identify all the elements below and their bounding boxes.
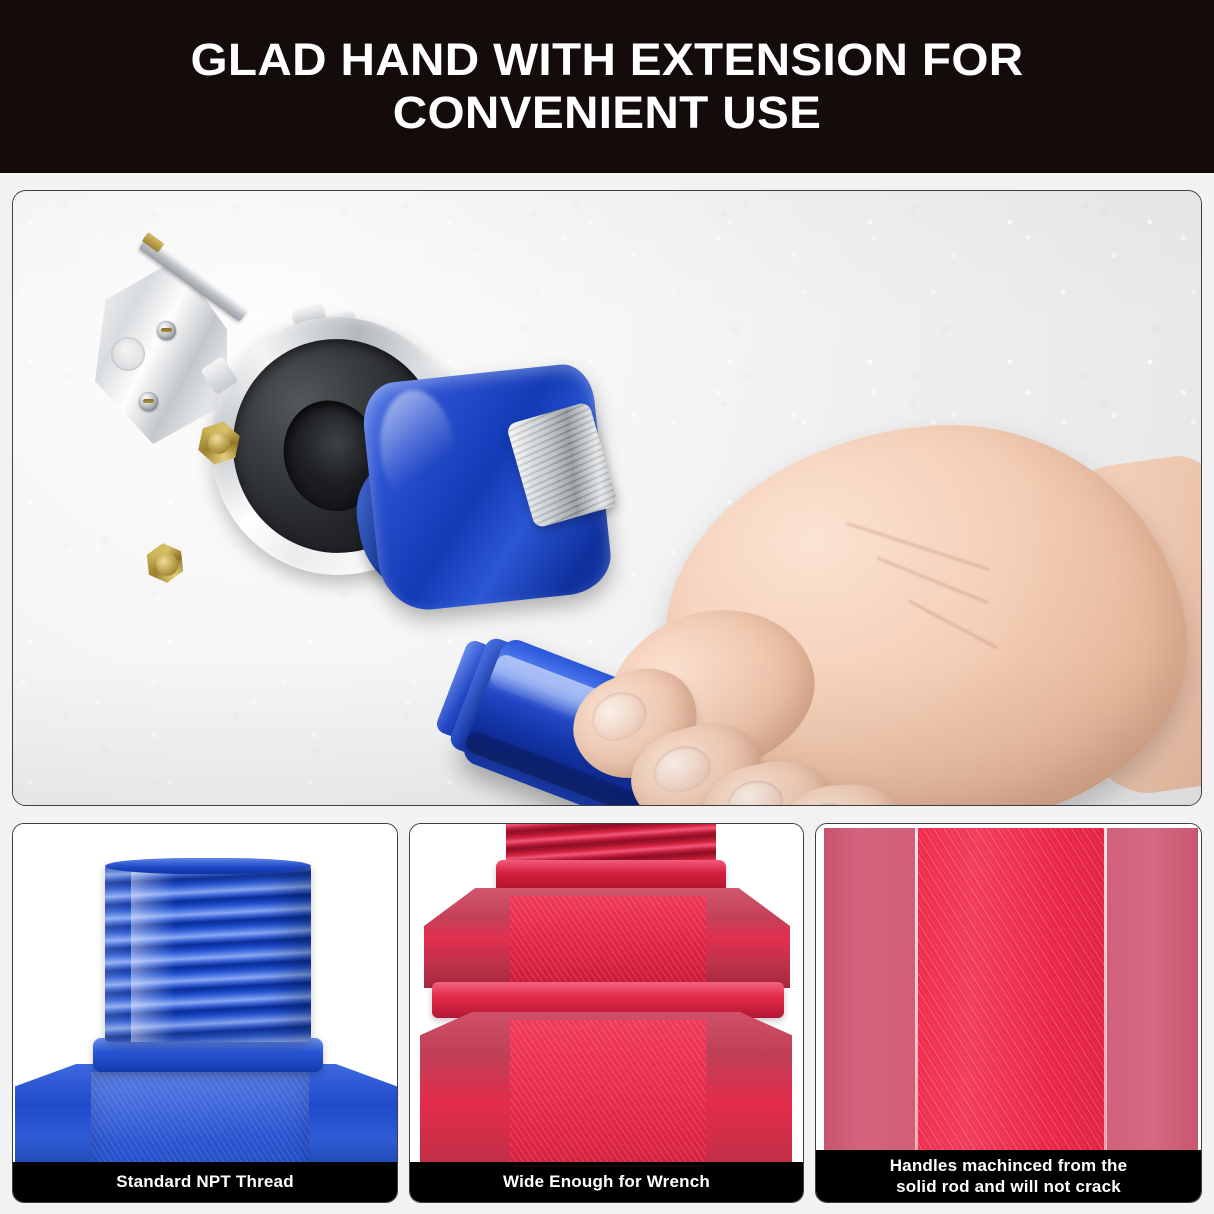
page-title: GLAD HAND WITH EXTENSION FOR CONVENIENT … — [35, 34, 1180, 138]
npt-male-thread — [105, 864, 311, 1042]
rod-edge-right — [1104, 828, 1107, 1158]
npt-thread-top-rim — [105, 858, 311, 874]
feature-solid-rod-handle — [816, 824, 1201, 1202]
feature-panel-wrench-width: Wide Enough for Wrench — [409, 823, 804, 1203]
feature-panel-npt-thread: Standard NPT Thread — [12, 823, 398, 1203]
feature-caption-wrench: Wide Enough for Wrench — [410, 1162, 803, 1202]
feature-caption-text: Standard NPT Thread — [116, 1171, 294, 1192]
red-hex-upper-face — [510, 896, 706, 988]
feature-wrench-width — [410, 824, 803, 1202]
photo-vignette — [13, 191, 1201, 805]
glad-hand-in-hand-photo — [13, 191, 1201, 805]
feature-caption-line-1: Handles machinced from the — [890, 1155, 1128, 1176]
feature-caption-solid-rod: Handles machinced from the solid rod and… — [816, 1150, 1201, 1202]
header-banner: GLAD HAND WITH EXTENSION FOR CONVENIENT … — [0, 0, 1214, 173]
red-male-thread — [506, 824, 716, 864]
hero-image-panel — [12, 190, 1202, 806]
feature-caption-text: Wide Enough for Wrench — [503, 1171, 710, 1192]
feature-caption-line-2: solid rod and will not crack — [890, 1176, 1128, 1197]
rod-edge-left — [915, 828, 918, 1158]
feature-npt-thread — [13, 824, 397, 1202]
feature-caption-npt: Standard NPT Thread — [13, 1162, 397, 1202]
feature-panel-solid-rod: Handles machinced from the solid rod and… — [815, 823, 1202, 1203]
rod-center-facet — [916, 828, 1106, 1158]
rod-left-facet — [824, 828, 916, 1158]
rod-right-facet — [1106, 828, 1198, 1158]
npt-shoulder-flange — [93, 1038, 323, 1072]
